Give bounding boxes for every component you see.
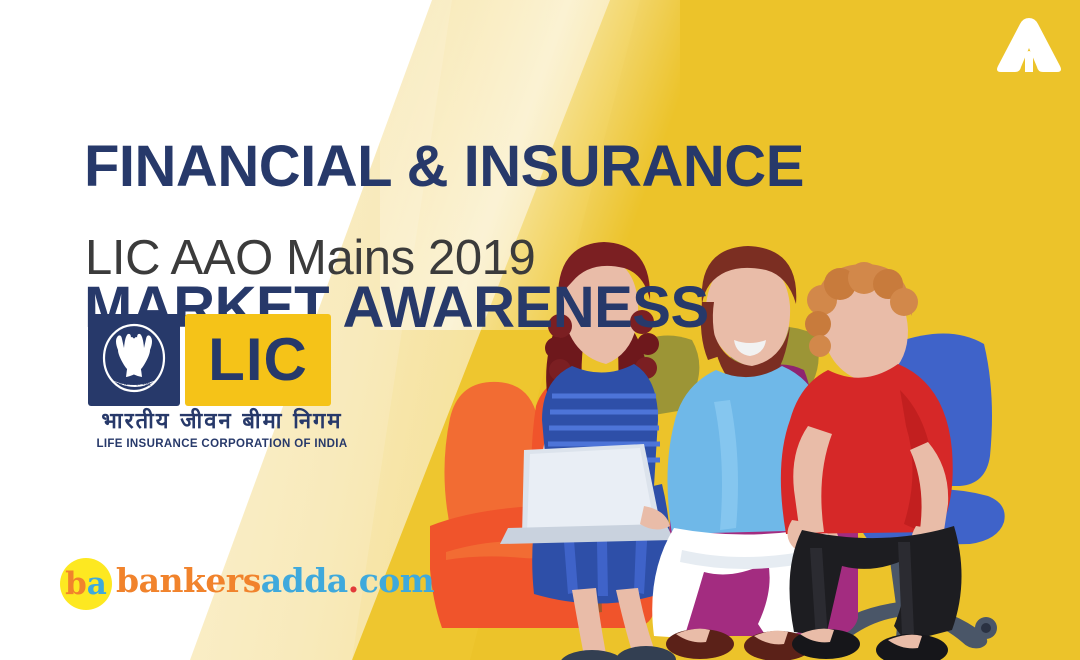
wordmark-dot: . [348, 561, 359, 600]
lic-wordmark: LIC [208, 330, 308, 390]
monogram-b: b [65, 569, 87, 600]
wordmark-bankers: bankers [116, 561, 261, 600]
bankersadda-monogram: ba [60, 558, 112, 610]
wordmark-adda: adda [261, 561, 348, 600]
bankersadda-wordmark: bankersadda.com [116, 564, 434, 597]
lic-hindi-name: भारतीय जीवन बीमा निगम [86, 410, 358, 434]
hands-holding-lamp-icon: योगक्षेमं वहाम्यहम् [88, 314, 180, 406]
lic-wordmark-box: LIC [185, 314, 331, 406]
bankersadda-logo[interactable]: ba bankersadda.com [60, 558, 390, 610]
wordmark-com: com [359, 561, 435, 600]
lic-emblem-panel: योगक्षेमं वहाम्यहम् [88, 314, 180, 406]
monogram-a: a [87, 569, 107, 600]
promo-banner: FINANCIAL & INSURANCE MARKET AWARENESS L… [0, 0, 1080, 660]
lic-logo: योगक्षेमं वहाम्यहम् LIC भारतीय जीवन बीमा… [88, 314, 368, 454]
lic-english-name: LIFE INSURANCE CORPORATION OF INDIA [86, 438, 358, 450]
subtitle: LIC AAO Mains 2019 [85, 234, 535, 283]
adda-triangle-logo-icon [988, 8, 1070, 90]
lic-emblem-motto: योगक्षेमं वहाम्यहम् [118, 380, 151, 387]
headline-line-1: FINANCIAL & INSURANCE [84, 132, 964, 202]
